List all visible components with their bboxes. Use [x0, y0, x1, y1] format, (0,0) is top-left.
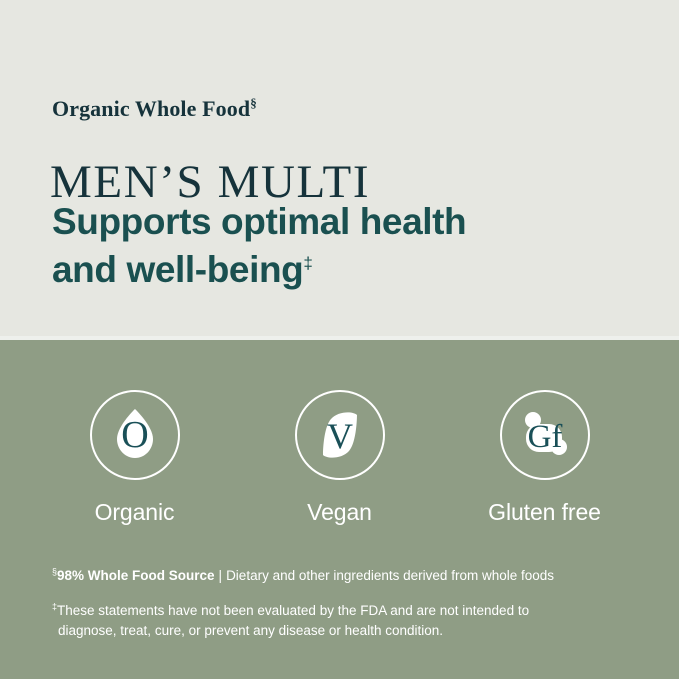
- gluten-free-gf-icon: Gf: [514, 404, 576, 466]
- certification-badge-row: O Organic V: [32, 390, 647, 526]
- badge-organic: O Organic: [45, 390, 225, 526]
- product-eyebrow: Organic Whole Food§: [52, 96, 257, 122]
- footnote-source-separator: |: [215, 568, 227, 583]
- footnote-fda-disclaimer: ‡These statements have not been evaluate…: [52, 601, 592, 641]
- badge-gluten-free: Gf Gluten free: [455, 390, 635, 526]
- footnotes: §98% Whole Food Source|Dietary and other…: [52, 552, 639, 654]
- badge-gluten-free-ring: Gf: [500, 390, 590, 480]
- badge-vegan-ring: V: [295, 390, 385, 480]
- footnote-fda-line-1: These statements have not been evaluated…: [57, 603, 529, 618]
- product-eyebrow-text: Organic Whole Food: [52, 96, 250, 121]
- badge-vegan-label: Vegan: [307, 499, 372, 526]
- benefit-claim-line-1: Supports optimal health: [52, 201, 466, 242]
- footnote-whole-food-source: §98% Whole Food Source|Dietary and other…: [52, 566, 639, 585]
- claim-footnote-marker: ‡: [303, 254, 312, 273]
- footnote-source-strong: 98% Whole Food Source: [57, 568, 215, 583]
- vegan-leaf-v-icon: V: [309, 404, 371, 466]
- footnote-fda-line-2: diagnose, treat, cure, or prevent any di…: [52, 621, 592, 641]
- badge-organic-label: Organic: [95, 499, 175, 526]
- hero-section: Organic Whole Food§ MEN’S MULTI Supports…: [0, 0, 679, 340]
- badge-organic-ring: O: [90, 390, 180, 480]
- certifications-section: O Organic V: [0, 340, 679, 679]
- benefit-claim: Supports optimal healthand well-being‡: [52, 198, 466, 294]
- badge-gluten-free-label: Gluten free: [488, 499, 601, 526]
- badge-vegan: V Vegan: [250, 390, 430, 526]
- svg-text:Gf: Gf: [527, 419, 562, 455]
- svg-text:O: O: [121, 414, 148, 456]
- eyebrow-footnote-marker: §: [250, 96, 257, 111]
- benefit-claim-line-2: and well-being: [52, 249, 303, 290]
- footnote-source-detail: Dietary and other ingredients derived fr…: [226, 568, 554, 583]
- svg-text:V: V: [327, 416, 353, 456]
- organic-leaf-o-icon: O: [104, 404, 166, 466]
- product-marketing-panel: Organic Whole Food§ MEN’S MULTI Supports…: [0, 0, 679, 679]
